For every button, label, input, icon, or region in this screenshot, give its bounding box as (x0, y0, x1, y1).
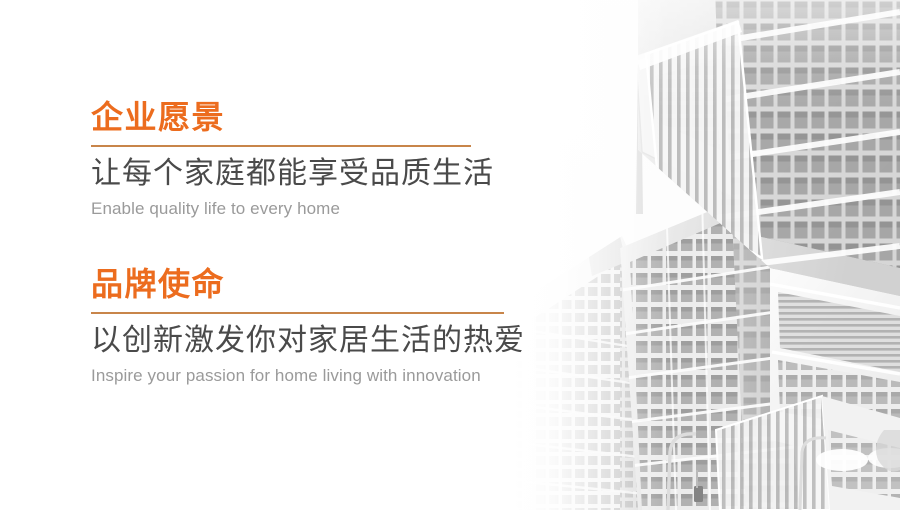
vision-block: 企业愿景 让每个家庭都能享受品质生活 Enable quality life t… (91, 100, 494, 219)
mission-heading: 品牌使命 (91, 267, 525, 303)
mission-subtitle-en: Inspire your passion for home living wit… (91, 366, 525, 386)
mission-block: 品牌使命 以创新激发你对家居生活的热爱 Inspire your passion… (91, 267, 525, 386)
mission-divider (91, 312, 504, 314)
mission-subtitle-cn: 以创新激发你对家居生活的热爱 (91, 323, 525, 359)
corporate-values-banner: 企业愿景 让每个家庭都能享受品质生活 Enable quality life t… (0, 0, 900, 510)
vision-subtitle-en: Enable quality life to every home (91, 199, 494, 219)
vision-subtitle-cn: 让每个家庭都能享受品质生活 (91, 156, 494, 192)
vision-divider (91, 145, 471, 147)
values-text-column: 企业愿景 让每个家庭都能享受品质生活 Enable quality life t… (0, 0, 540, 510)
vision-heading: 企业愿景 (91, 100, 494, 136)
